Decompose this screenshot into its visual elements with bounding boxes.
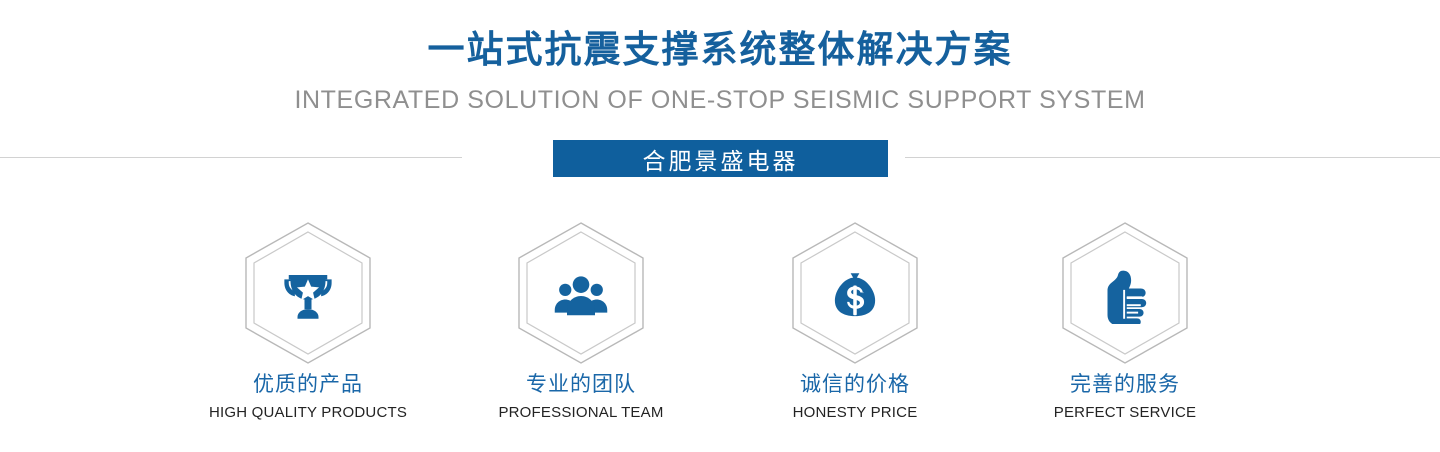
feature-title: 优质的产品 bbox=[198, 372, 418, 398]
feature-subtitle: PROFESSIONAL TEAM bbox=[471, 403, 691, 422]
money-bag-icon bbox=[827, 268, 883, 324]
trophy-icon bbox=[280, 268, 336, 324]
divider-row: 合肥景盛电器 bbox=[0, 140, 1440, 180]
feature-item-service: 完善的服务 PERFECT SERVICE bbox=[1015, 218, 1235, 422]
page-subtitle: INTEGRATED SOLUTION OF ONE-STOP SEISMIC … bbox=[0, 85, 1440, 115]
feature-list: 优质的产品 HIGH QUALITY PRODUCTS bbox=[0, 218, 1440, 438]
team-people-icon bbox=[553, 268, 609, 324]
company-name-badge: 合肥景盛电器 bbox=[553, 140, 888, 177]
feature-subtitle: PERFECT SERVICE bbox=[1015, 403, 1235, 422]
feature-item-quality: 优质的产品 HIGH QUALITY PRODUCTS bbox=[198, 218, 418, 422]
divider-line-left bbox=[0, 157, 462, 158]
hexagon-frame bbox=[745, 218, 965, 368]
divider-line-right bbox=[905, 157, 1440, 158]
feature-item-price: 诚信的价格 HONESTY PRICE bbox=[745, 218, 965, 422]
feature-title: 专业的团队 bbox=[471, 372, 691, 398]
feature-subtitle: HIGH QUALITY PRODUCTS bbox=[198, 403, 418, 422]
feature-subtitle: HONESTY PRICE bbox=[745, 403, 965, 422]
feature-item-team: 专业的团队 PROFESSIONAL TEAM bbox=[471, 218, 691, 422]
page-title: 一站式抗震支撑系统整体解决方案 bbox=[0, 26, 1440, 74]
feature-title: 诚信的价格 bbox=[745, 372, 965, 398]
headline-block: 一站式抗震支撑系统整体解决方案 INTEGRATED SOLUTION OF O… bbox=[0, 26, 1440, 115]
thumbs-up-icon bbox=[1097, 268, 1153, 324]
hexagon-frame bbox=[198, 218, 418, 368]
feature-title: 完善的服务 bbox=[1015, 372, 1235, 398]
hexagon-frame bbox=[1015, 218, 1235, 368]
hexagon-frame bbox=[471, 218, 691, 368]
promo-banner: 一站式抗震支撑系统整体解决方案 INTEGRATED SOLUTION OF O… bbox=[0, 0, 1440, 452]
